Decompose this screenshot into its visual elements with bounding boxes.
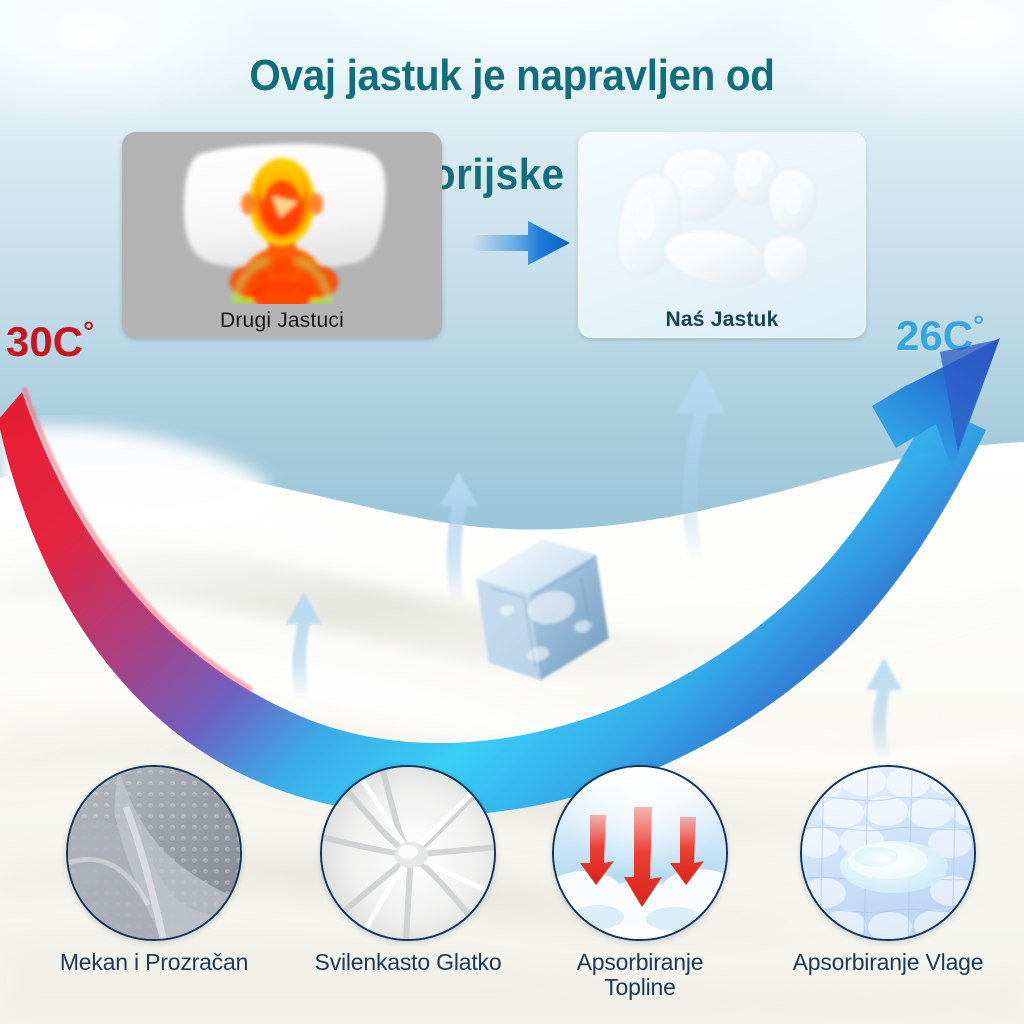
silky-smooth-fabric-image	[320, 765, 496, 941]
moisture-absorption-image	[800, 765, 976, 941]
feature-caption: Apsorbiranje Topline	[540, 950, 740, 1000]
soft-breathable-fabric-image	[66, 765, 242, 941]
feature-caption: Apsorbiranje Vlage	[758, 950, 1018, 975]
infographic-canvas: Ovaj jastuk je napravljen od Memorijske …	[0, 0, 1024, 1024]
feature-soft-breathable[interactable]: Mekan i Prozračan	[66, 765, 242, 975]
feature-silky-smooth[interactable]: Svilenkasto Glatko	[320, 765, 496, 975]
feature-caption: Svilenkasto Glatko	[288, 950, 528, 975]
feature-caption: Mekan i Prozračan	[34, 950, 274, 975]
ice-cube-icon	[463, 528, 622, 691]
feature-heat-absorption[interactable]: Apsorbiranje Topline	[552, 765, 728, 1000]
feature-moisture-absorption[interactable]: Apsorbiranje Vlage	[800, 765, 976, 975]
heat-absorption-image	[552, 765, 728, 941]
